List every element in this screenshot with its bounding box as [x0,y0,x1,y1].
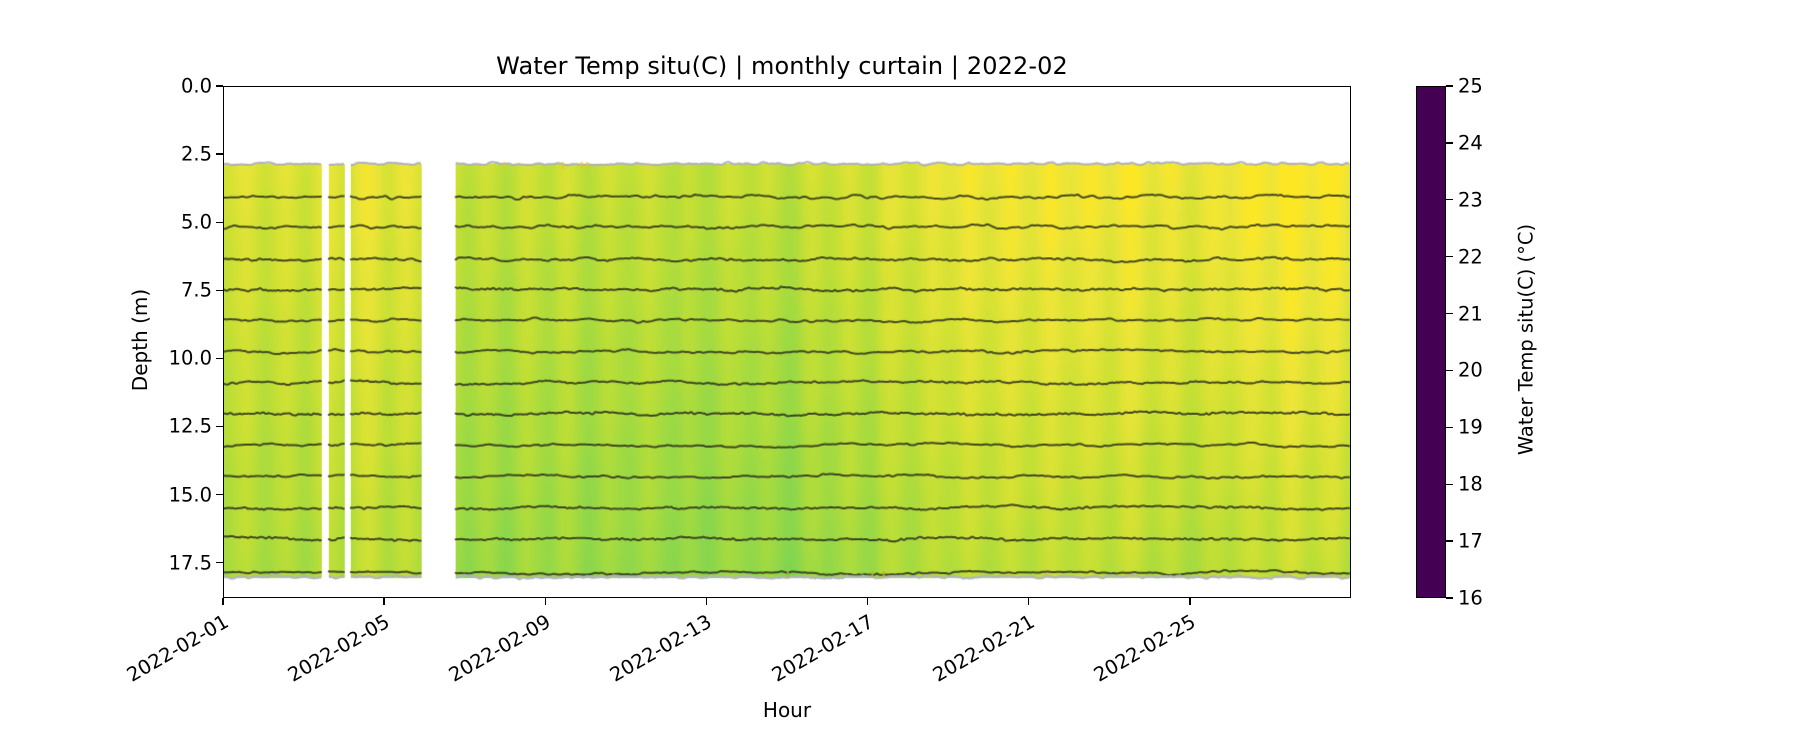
colorbar-tick-label: 16 [1458,587,1483,610]
y-axis-tick-mark [216,494,223,495]
colorbar-tick-label: 24 [1458,131,1483,154]
colorbar-tick-mark [1446,142,1453,143]
colorbar-tick-mark [1446,85,1453,86]
y-axis-tick-label: 15.0 [169,483,212,506]
y-axis-tick-mark [216,426,223,427]
colorbar-gradient [1417,87,1445,597]
x-axis-tick-mark [222,598,223,605]
y-axis-tick-label: 17.5 [169,551,212,574]
x-axis-tick-label: 2022-02-25 [1075,610,1199,695]
y-axis-tick-label: 7.5 [181,279,212,302]
colorbar-tick-mark [1446,370,1453,371]
x-axis-tick-mark [545,598,546,605]
colorbar-tick-label: 17 [1458,530,1483,553]
colorbar-tick-mark [1446,484,1453,485]
y-axis-tick-mark [216,358,223,359]
x-axis-tick-label: 2022-02-05 [270,610,394,695]
heatmap-canvas-wrap [224,87,1350,597]
x-axis-label: Hour [223,698,1351,722]
colorbar-tick-label: 20 [1458,359,1483,382]
colorbar-tick-mark [1446,427,1453,428]
colorbar-label: Water Temp situ(C) (°C) [1515,190,1538,490]
y-axis-tick-mark [216,562,223,563]
x-axis-tick-label: 2022-02-01 [108,610,232,695]
colorbar-tick-label: 21 [1458,302,1483,325]
colorbar-tick-mark [1446,256,1453,257]
x-axis-tick-label: 2022-02-21 [914,610,1038,695]
x-axis-tick-mark [1028,598,1029,605]
y-axis-tick-mark [216,85,223,86]
heatmap-image [224,87,1350,597]
x-axis-tick-label: 2022-02-17 [753,610,877,695]
y-axis-tick-label: 10.0 [169,347,212,370]
colorbar-tick-label: 19 [1458,416,1483,439]
chart-title-text: Water Temp situ(C) | monthly curtain | 2… [496,52,1068,80]
x-axis-tick-label: 2022-02-13 [592,610,716,695]
y-axis-tick-label: 5.0 [181,211,212,234]
colorbar-tick-mark [1446,540,1453,541]
colorbar-tick-label: 23 [1458,188,1483,211]
x-axis-tick-mark [383,598,384,605]
colorbar-tick-mark [1446,199,1453,200]
figure-canvas: Water Temp situ(C) | monthly curtain | 2… [0,0,1800,750]
colorbar-tick-mark [1446,313,1453,314]
colorbar-tick-label: 22 [1458,245,1483,268]
y-axis-label: Depth (m) [128,260,152,420]
chart-title: Water Temp situ(C) | monthly curtain | 2… [0,52,1800,80]
y-axis-tick-mark [216,290,223,291]
x-axis-tick-mark [867,598,868,605]
x-axis-tick-mark [706,598,707,605]
y-axis-tick-label: 0.0 [181,75,212,98]
colorbar-tick-mark [1446,597,1453,598]
heatmap-plot-area [223,86,1351,598]
colorbar-tick-label: 25 [1458,75,1483,98]
x-axis-tick-label: 2022-02-09 [431,610,555,695]
x-axis-tick-mark [1189,598,1190,605]
y-axis-tick-mark [216,153,223,154]
colorbar-tick-label: 18 [1458,473,1483,496]
y-axis-tick-mark [216,222,223,223]
y-axis-tick-label: 2.5 [181,143,212,166]
y-axis-tick-label: 12.5 [169,415,212,438]
colorbar [1416,86,1446,598]
